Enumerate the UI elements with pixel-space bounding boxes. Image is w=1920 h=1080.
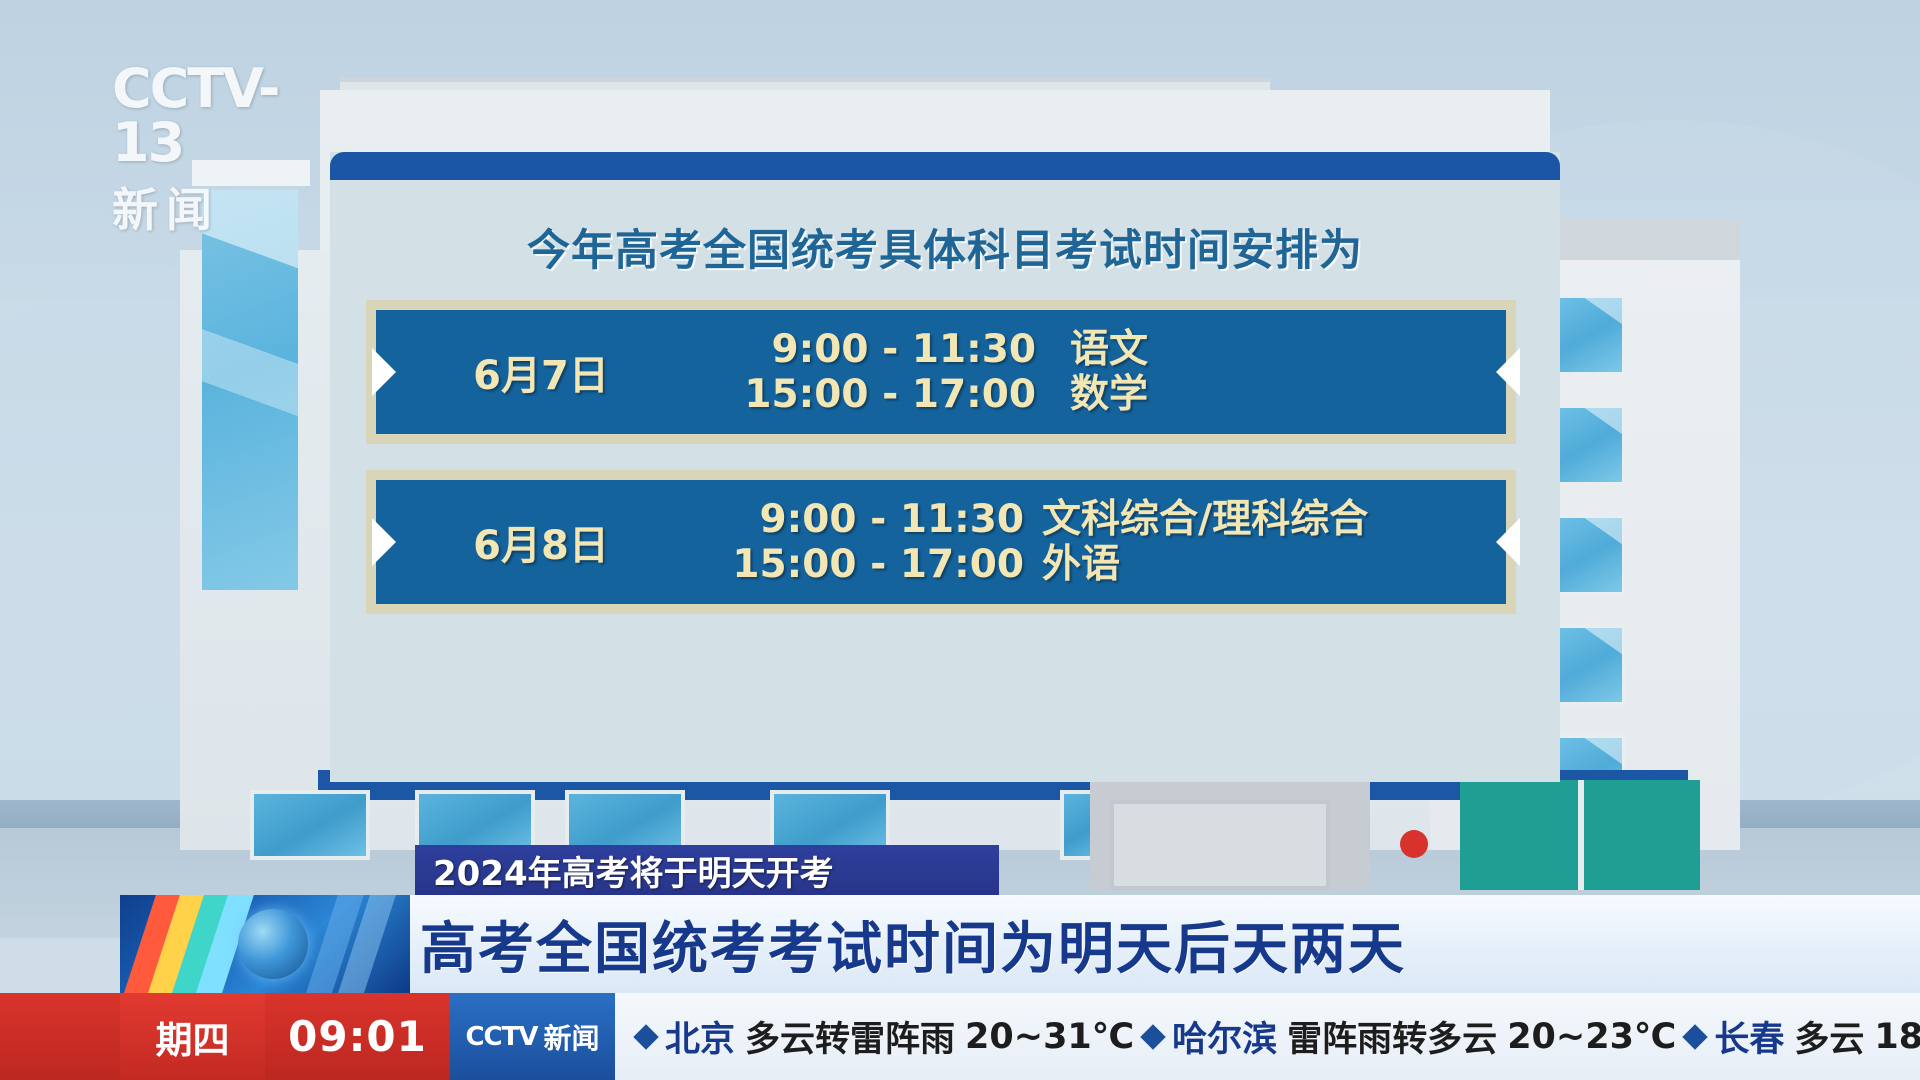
red-marker-dot	[1400, 830, 1428, 858]
diamond-bullet-icon	[1683, 1024, 1708, 1049]
exam-slot: 9:00 - 11:30 语文	[706, 327, 1506, 372]
exam-slot-subject: 外语	[1024, 542, 1120, 587]
exam-slot-subject: 数学	[1036, 372, 1148, 417]
ticker-weather-condition: 多云转雷阵雨	[745, 1011, 955, 1062]
lower-third-kicker-text: 2024年高考将于明天开考	[433, 846, 834, 895]
triangle-right-icon	[372, 348, 396, 396]
exam-slot-time: 15:00 - 17:00	[706, 372, 1036, 417]
ticker-brand-cctv: CCTV	[465, 1022, 537, 1052]
exam-slot-time: 15:00 - 17:00	[706, 542, 1024, 587]
news-ticker: 期四 09:01 CCTV 新闻 北京 多云转雷阵雨 20~31℃ 哈尔滨 雷阵…	[0, 993, 1920, 1080]
exam-row-slots: 9:00 - 11:30 文科综合/理科综合 15:00 - 17:00 外语	[706, 497, 1506, 587]
ticker-weather-city: 长春	[1714, 1011, 1784, 1062]
triangle-left-icon	[1496, 518, 1520, 566]
exam-slot-subject: 语文	[1036, 327, 1148, 372]
ticker-clock: 09:01	[265, 993, 450, 1080]
ticker-weather-item: 北京 多云转雷阵雨 20~31℃	[637, 1011, 1134, 1062]
exam-row-slots: 9:00 - 11:30 语文 15:00 - 17:00 数学	[706, 327, 1506, 417]
ticker-weather-temp: 20~31℃	[965, 1017, 1134, 1057]
triangle-left-icon	[1496, 348, 1520, 396]
exam-schedule-row: 6月7日 9:00 - 11:30 语文 15:00 - 17:00 数学	[366, 300, 1516, 444]
ticker-weekday: 期四	[120, 993, 265, 1080]
channel-logo-news: 新闻	[112, 174, 332, 240]
ticker-weather-list: 北京 多云转雷阵雨 20~31℃ 哈尔滨 雷阵雨转多云 20~23℃ 长春 多云…	[615, 993, 1920, 1080]
window	[1555, 405, 1625, 485]
ticker-weather-city: 北京	[665, 1011, 735, 1062]
ticker-weather-condition: 雷阵雨转多云	[1287, 1011, 1497, 1062]
ticker-weather-city: 哈尔滨	[1172, 1011, 1277, 1062]
exam-slot-time: 9:00 - 11:30	[706, 327, 1036, 372]
exam-slot-subject: 文科综合/理科综合	[1024, 497, 1368, 542]
exam-schedule-panel-topbar	[330, 152, 1560, 180]
building-left-glass-curtain	[202, 190, 298, 590]
triangle-right-icon	[372, 518, 396, 566]
lower-third-kicker: 2024年高考将于明天开考	[415, 845, 999, 895]
channel-logo: CCTV-13 新闻	[112, 62, 332, 177]
globe-icon	[238, 909, 308, 979]
window	[1555, 515, 1625, 595]
building-teal-door-split	[1578, 780, 1584, 890]
ticker-red-cap	[0, 993, 120, 1080]
building-entrance-door	[1110, 800, 1330, 890]
lower-third-headline: 高考全国统考考试时间为明天后天两天	[420, 895, 1820, 993]
ticker-weather-item: 长春 多云 18~	[1686, 1011, 1920, 1062]
ticker-brand: CCTV 新闻	[450, 993, 615, 1080]
exam-slot: 15:00 - 17:00 外语	[706, 542, 1506, 587]
diamond-bullet-icon	[633, 1024, 658, 1049]
exam-slot: 9:00 - 11:30 文科综合/理科综合	[706, 497, 1506, 542]
exam-row-date: 6月7日	[376, 343, 706, 401]
window	[250, 790, 370, 860]
broadcast-stage: 今年高考全国统考具体科目考试时间安排为 6月7日 9:00 - 11:30 语文…	[0, 0, 1920, 1080]
ticker-weather-item: 哈尔滨 雷阵雨转多云 20~23℃	[1144, 1011, 1676, 1062]
exam-row-date: 6月8日	[376, 513, 706, 571]
ticker-weather-temp: 18~	[1874, 1017, 1920, 1057]
channel-logo-cctv13: CCTV-13	[112, 62, 332, 170]
exam-slot: 15:00 - 17:00 数学	[706, 372, 1506, 417]
lower-third-headline-text: 高考全国统考考试时间为明天后天两天	[420, 904, 1406, 985]
window	[1555, 295, 1625, 375]
exam-schedule-row: 6月8日 9:00 - 11:30 文科综合/理科综合 15:00 - 17:0…	[366, 470, 1516, 614]
lower-third-logo-block	[120, 895, 410, 993]
diamond-bullet-icon	[1140, 1024, 1165, 1049]
exam-slot-time: 9:00 - 11:30	[706, 497, 1024, 542]
window	[1555, 625, 1625, 705]
ticker-brand-news: 新闻	[544, 1017, 600, 1057]
ticker-weather-condition: 多云	[1794, 1011, 1864, 1062]
exam-schedule-title: 今年高考全国统考具体科目考试时间安排为	[330, 216, 1560, 278]
ticker-weather-temp: 20~23℃	[1507, 1017, 1676, 1057]
